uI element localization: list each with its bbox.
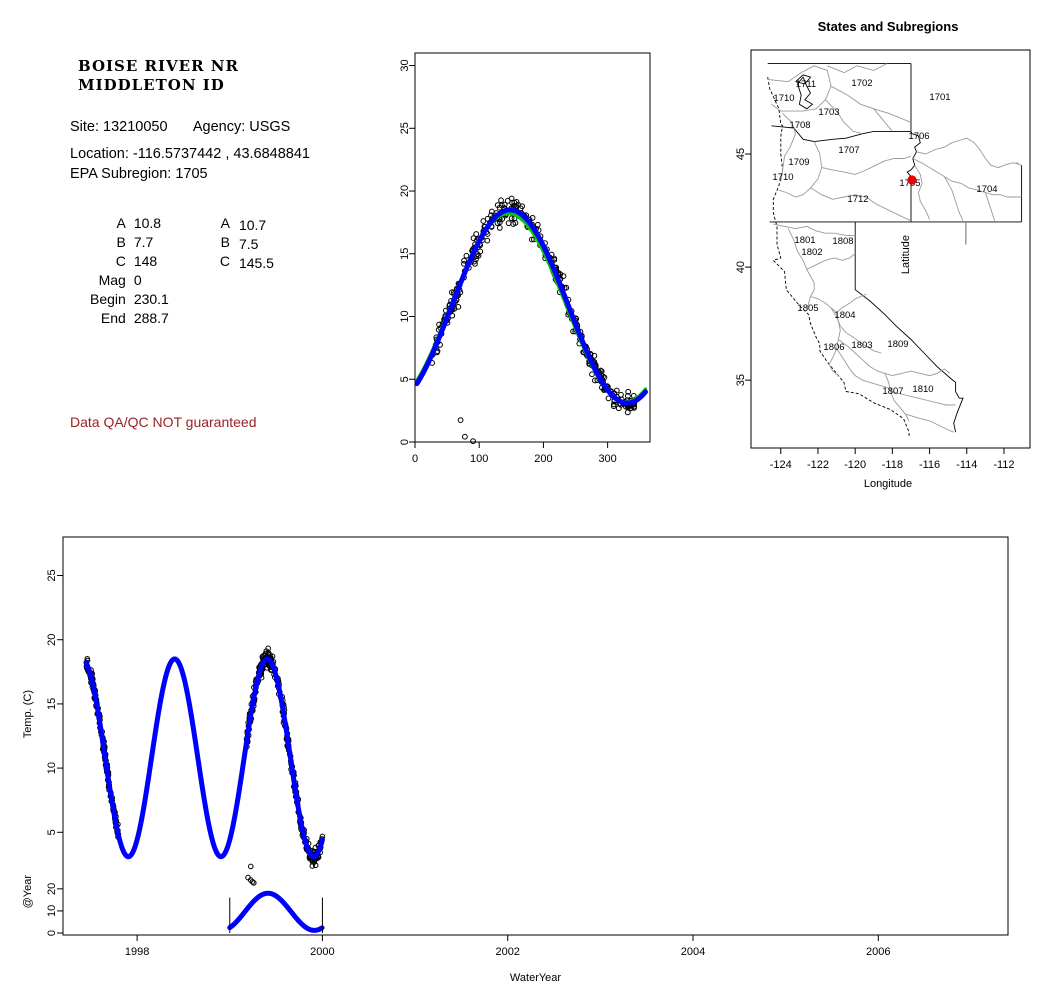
- param-label-2: [220, 310, 238, 329]
- param-label: C: [90, 253, 134, 272]
- site-row: Site: 13210050 Agency: USGS: [70, 119, 290, 135]
- svg-text:15: 15: [46, 698, 58, 710]
- svg-text:1704: 1704: [976, 184, 997, 195]
- param-value-2: [238, 272, 275, 291]
- timeseries-inset-curve: [230, 893, 322, 930]
- svg-text:1801: 1801: [794, 235, 815, 246]
- svg-text:1808: 1808: [832, 236, 853, 247]
- svg-text:-114: -114: [956, 459, 977, 471]
- svg-text:1807: 1807: [882, 386, 903, 397]
- svg-text:45: 45: [735, 148, 747, 160]
- table-row: A 10.8 A 10.7: [90, 215, 275, 234]
- timeseries-inset: [230, 893, 323, 933]
- svg-text:0: 0: [412, 453, 418, 465]
- svg-text:1703: 1703: [818, 107, 839, 118]
- svg-text:1998: 1998: [125, 946, 149, 958]
- qaqc-warning: Data QA/QC NOT guaranteed: [70, 414, 257, 430]
- timeseries-inset-yaxis-title: @Year: [22, 875, 34, 908]
- timeseries-chart: 5101520251998200020022004200601020: [20, 525, 1030, 990]
- svg-text:1711: 1711: [796, 79, 816, 90]
- param-label-2: A: [220, 215, 238, 234]
- site-id: Site: 13210050: [70, 119, 168, 135]
- site-location-marker: [908, 176, 917, 185]
- svg-text:25: 25: [399, 122, 411, 134]
- timeseries-xaxis-title: WaterYear: [63, 972, 1008, 984]
- states-subregions-map: 1711170217011710170317081706170717091710…: [740, 40, 1038, 500]
- param-label-2: C: [220, 253, 238, 272]
- param-value-2: 7.5: [238, 234, 275, 253]
- timeseries-plot-frame: [63, 537, 1008, 935]
- svg-text:20: 20: [46, 883, 58, 895]
- svg-text:10: 10: [46, 762, 58, 774]
- subregion-text: EPA Subregion: 1705: [70, 166, 208, 182]
- svg-text:1803: 1803: [851, 340, 872, 351]
- param-label: End: [90, 310, 134, 329]
- param-label: B: [90, 234, 134, 253]
- svg-text:10: 10: [46, 905, 58, 917]
- parameter-table: A 10.8 A 10.7 B 7.7 B 7.5 C 148 C 145.5 …: [90, 215, 275, 329]
- svg-text:1710: 1710: [773, 93, 794, 104]
- param-value: 230.1: [134, 291, 220, 310]
- param-label-2: B: [220, 234, 238, 253]
- param-label-2: [220, 291, 238, 310]
- location-text: Location: -116.5737442 , 43.6848841: [70, 146, 310, 162]
- station-title-line1: BOISE RIVER NR: [78, 57, 239, 76]
- param-label-2: [220, 272, 238, 291]
- svg-text:2006: 2006: [866, 946, 890, 958]
- svg-text:1804: 1804: [834, 310, 855, 321]
- table-row: End 288.7: [90, 310, 275, 329]
- svg-text:1712: 1712: [847, 194, 868, 205]
- svg-text:1806: 1806: [823, 342, 844, 353]
- svg-text:-118: -118: [882, 459, 903, 471]
- svg-text:5: 5: [46, 829, 58, 835]
- svg-text:1702: 1702: [851, 78, 872, 89]
- timeseries-yaxis-title: Temp. (C): [22, 690, 34, 738]
- svg-text:20: 20: [399, 185, 411, 197]
- svg-text:10: 10: [399, 310, 411, 322]
- map-axes: -124-122-120-118-116-114-112454035: [735, 148, 1015, 471]
- table-row: C 148 C 145.5: [90, 253, 275, 272]
- table-row: Mag 0: [90, 272, 275, 291]
- param-value-2: [238, 310, 275, 329]
- param-label: Begin: [90, 291, 134, 310]
- svg-text:1707: 1707: [838, 145, 859, 156]
- map-title: States and Subregions: [748, 19, 1028, 34]
- svg-text:2004: 2004: [681, 946, 705, 958]
- table-row: B 7.7 B 7.5: [90, 234, 275, 253]
- svg-text:0: 0: [46, 930, 58, 936]
- param-label: A: [90, 215, 134, 234]
- map-xaxis-title: Longitude: [748, 478, 1028, 490]
- svg-text:300: 300: [598, 453, 616, 465]
- param-value: 10.8: [134, 215, 220, 234]
- map-subregion-labels: 1711170217011710170317081706170717091710…: [772, 78, 997, 397]
- table-row: Begin 230.1: [90, 291, 275, 310]
- svg-text:1701: 1701: [929, 92, 950, 103]
- svg-text:35: 35: [735, 374, 747, 386]
- param-value: 7.7: [134, 234, 220, 253]
- station-title-line2: MIDDLETON ID: [78, 76, 239, 95]
- svg-text:1710: 1710: [772, 172, 793, 183]
- svg-text:1809: 1809: [887, 339, 908, 350]
- param-value-2: 145.5: [238, 253, 275, 272]
- param-value: 148: [134, 253, 220, 272]
- param-value: 288.7: [134, 310, 220, 329]
- annual-cycle-chart: 0510152025300100200300: [380, 40, 670, 480]
- svg-text:200: 200: [534, 453, 552, 465]
- svg-text:1708: 1708: [789, 120, 810, 131]
- param-value-2: 10.7: [238, 215, 275, 234]
- svg-text:1802: 1802: [801, 247, 822, 258]
- svg-text:15: 15: [399, 248, 411, 260]
- svg-text:-116: -116: [919, 459, 940, 471]
- svg-text:5: 5: [399, 376, 411, 382]
- svg-text:1805: 1805: [797, 303, 818, 314]
- svg-text:1709: 1709: [788, 157, 809, 168]
- timeseries-fit-blue: [86, 659, 322, 857]
- svg-text:2002: 2002: [495, 946, 519, 958]
- svg-text:1810: 1810: [912, 384, 933, 395]
- svg-text:-120: -120: [844, 459, 866, 471]
- station-title: BOISE RIVER NR MIDDLETON ID: [78, 57, 239, 95]
- param-value-2: [238, 291, 275, 310]
- map-yaxis-title: Latitude: [900, 235, 912, 274]
- svg-text:0: 0: [399, 439, 411, 445]
- agency: Agency: USGS: [193, 119, 291, 135]
- svg-text:-122: -122: [807, 459, 829, 471]
- param-label: Mag: [90, 272, 134, 291]
- svg-text:20: 20: [46, 634, 58, 646]
- param-value: 0: [134, 272, 220, 291]
- svg-text:100: 100: [470, 453, 488, 465]
- svg-text:30: 30: [399, 59, 411, 71]
- svg-text:40: 40: [735, 261, 747, 273]
- annual-cycle-plot-frame: [415, 53, 650, 442]
- svg-text:-124: -124: [770, 459, 792, 471]
- svg-text:25: 25: [46, 569, 58, 581]
- svg-text:2000: 2000: [310, 946, 334, 958]
- svg-text:-112: -112: [993, 459, 1014, 471]
- svg-text:1706: 1706: [908, 131, 929, 142]
